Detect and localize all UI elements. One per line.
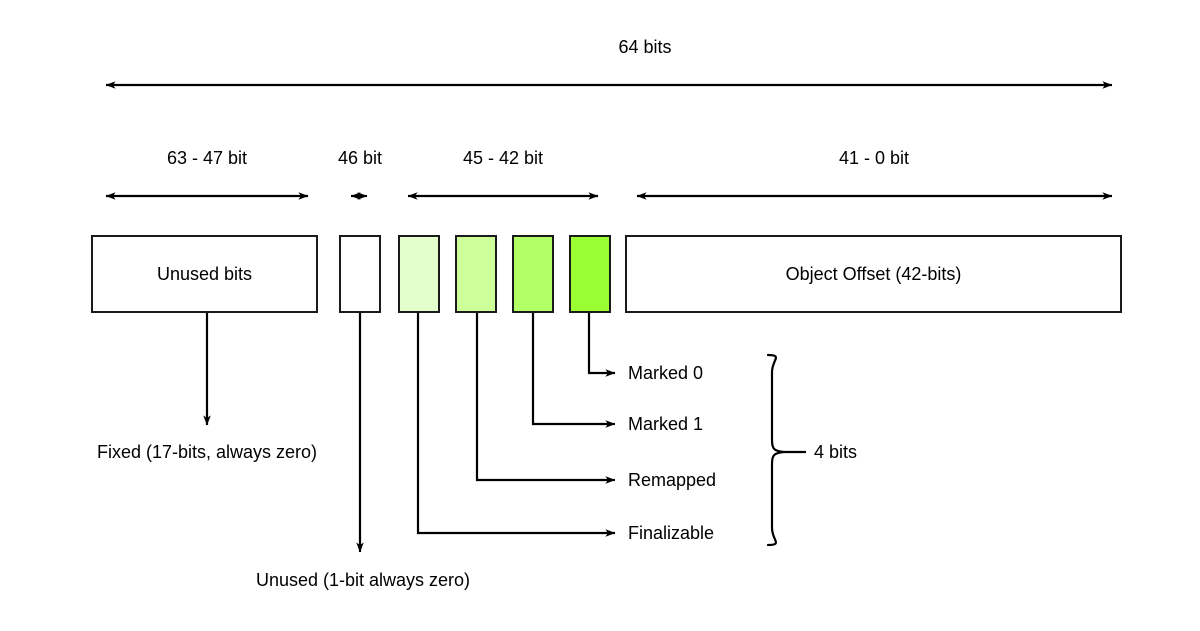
unused-bits-box-label: Unused bits <box>157 264 252 285</box>
object-offset-box: Object Offset (42-bits) <box>625 235 1122 313</box>
diagram-lines-layer <box>0 0 1200 631</box>
total-span-label: 64 bits <box>618 38 671 56</box>
unused-bits-box: Unused bits <box>91 235 318 313</box>
object-offset-box-label: Object Offset (42-bits) <box>786 264 962 285</box>
remapped-callout-line <box>477 313 615 480</box>
marked1-callout-line <box>533 313 615 424</box>
fixed-callout-label: Fixed (17-bits, always zero) <box>97 443 317 461</box>
segment-label-bits-45-42: 45 - 42 bit <box>463 149 543 167</box>
unused-1bit-box <box>339 235 381 313</box>
marked1-callout-label: Marked 1 <box>628 415 703 433</box>
bit-field-diagram: 64 bits 63 - 47 bit 46 bit 45 - 42 bit 4… <box>0 0 1200 631</box>
marked0-callout-line <box>589 313 615 373</box>
marked0-callout-label: Marked 0 <box>628 364 703 382</box>
marked1-box <box>512 235 554 313</box>
remapped-box <box>455 235 497 313</box>
four-bits-brace-shape <box>768 355 806 545</box>
unused-callout-label: Unused (1-bit always zero) <box>256 571 470 589</box>
segment-label-bits-41-0: 41 - 0 bit <box>839 149 909 167</box>
finalizable-box <box>398 235 440 313</box>
finalizable-callout-label: Finalizable <box>628 524 714 542</box>
segment-label-bits-63-47: 63 - 47 bit <box>167 149 247 167</box>
marked0-box <box>569 235 611 313</box>
segment-label-bit-46: 46 bit <box>338 149 382 167</box>
four-bits-brace-label: 4 bits <box>814 443 857 461</box>
remapped-callout-label: Remapped <box>628 471 716 489</box>
